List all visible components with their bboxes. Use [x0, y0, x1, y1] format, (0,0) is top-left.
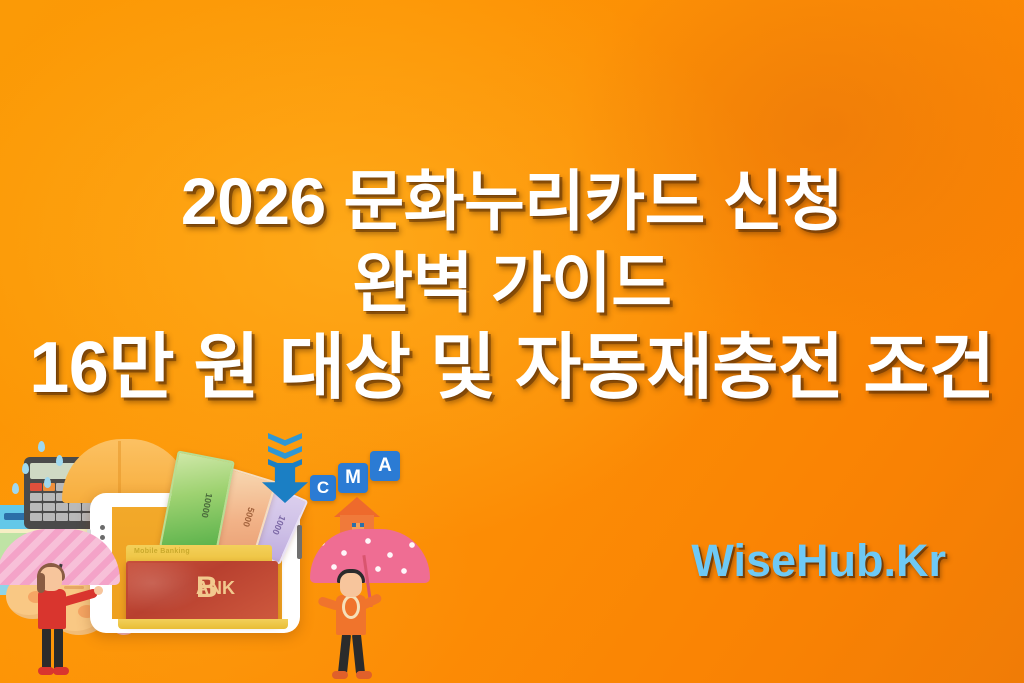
girl-shoe	[53, 667, 69, 675]
bank-card-logo-rest: ANK	[196, 573, 235, 603]
thumbnail-canvas: 2026 문화누리카드 신청 완벽 가이드 16만 원 대상 및 자동재충전 조…	[0, 0, 1024, 683]
pink-dotted-umbrella-icon	[310, 529, 430, 583]
girl-hair-side	[37, 573, 45, 593]
calculator-key	[69, 503, 81, 511]
rain-drop-icon	[38, 441, 45, 452]
cma-block-m: M	[338, 463, 368, 493]
smartphone-power-button	[297, 525, 302, 559]
calculator-key	[69, 513, 81, 521]
girl-body	[38, 589, 66, 629]
calculator-key	[30, 493, 42, 501]
wallet-label: Mobile Banking	[134, 548, 190, 555]
banknote-label: 1000	[270, 514, 287, 536]
calculator-key	[43, 503, 55, 511]
calculator-key	[30, 483, 42, 491]
boy-leg	[352, 633, 365, 676]
rain-drop-icon	[44, 477, 51, 488]
girl-shoe	[38, 667, 54, 675]
rain-drop-icon	[12, 483, 19, 494]
boy-leg	[338, 633, 351, 676]
rain-drop-icon	[56, 455, 63, 466]
cma-block-c: C	[310, 475, 336, 501]
yellow-umbrella-rib	[118, 441, 121, 497]
calculator-key	[56, 503, 68, 511]
girl-leg	[42, 627, 51, 671]
banknote-label: 5000	[241, 506, 256, 528]
cma-block-a: A	[370, 451, 400, 481]
headline-block: 2026 문화누리카드 신청 완벽 가이드 16만 원 대상 및 자동재충전 조…	[0, 168, 1024, 404]
smartphone-camera-dot	[100, 525, 105, 530]
calculator-key	[30, 503, 42, 511]
calculator-key	[30, 513, 42, 521]
banknote-label: 10000	[200, 492, 215, 518]
house-roof-icon	[334, 497, 380, 517]
chevron-down-icon	[268, 433, 302, 446]
boy-scarf	[342, 595, 360, 619]
piggy-bank-slot	[64, 586, 84, 589]
calculator-key	[43, 493, 55, 501]
headline-line-2: 완벽 가이드	[0, 250, 1024, 316]
girl-hand	[94, 586, 103, 595]
rain-drop-icon	[22, 463, 29, 474]
calculator-key	[56, 513, 68, 521]
headline-line-1: 2026 문화누리카드 신청	[0, 168, 1024, 234]
chevron-down-icon	[268, 446, 302, 459]
brand-watermark: WiseHub.Kr	[691, 535, 946, 587]
finance-illustration: UP!	[0, 433, 420, 683]
boy-head	[340, 573, 362, 597]
calculator-key	[43, 513, 55, 521]
calculator-key-row-4	[30, 513, 94, 522]
headline-line-3: 16만 원 대상 및 자동재충전 조건	[0, 332, 1024, 404]
boy-shoe	[356, 671, 372, 679]
girl-leg	[54, 627, 63, 671]
wallet-base	[118, 619, 288, 629]
boy-shoe	[332, 671, 348, 679]
calculator-key-row-3	[30, 503, 94, 512]
